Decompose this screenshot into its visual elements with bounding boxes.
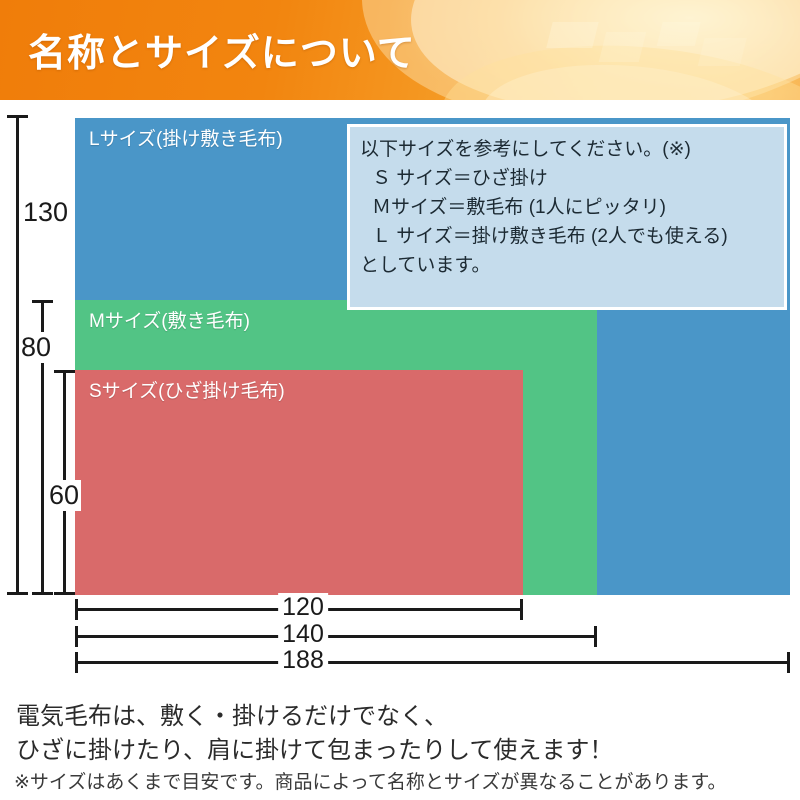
dimension-value-140: 140 bbox=[278, 620, 328, 649]
callout-line-small: Ｓ サイズ＝ひざ掛け bbox=[360, 164, 774, 193]
dimension-cap-bottom bbox=[7, 592, 28, 595]
page-title: 名称とサイズについて bbox=[28, 22, 416, 77]
horizontal-dimension-140: 140 bbox=[75, 625, 597, 647]
dimension-line-bar bbox=[75, 635, 597, 638]
dimension-cap-top bbox=[54, 370, 75, 373]
callout-line-medium: Ｍサイズ＝敷毛布 (1人にピッタリ) bbox=[360, 193, 774, 222]
footer-line-1: 電気毛布は、敷く・掛けるだけでなく、 bbox=[0, 700, 800, 734]
dimension-cap-top bbox=[7, 115, 28, 118]
horizontal-dimension-120: 120 bbox=[75, 598, 523, 620]
callout-line-large: Ｌ サイズ＝掛け敷き毛布 (2人でも使える) bbox=[360, 222, 774, 251]
dimension-line-bar bbox=[75, 661, 790, 664]
size-rectangle-small: Sサイズ(ひざ掛け毛布) bbox=[75, 370, 523, 595]
size-label-small: Sサイズ(ひざ掛け毛布) bbox=[89, 376, 285, 403]
dimension-value-80: 80 bbox=[19, 332, 53, 363]
footer-disclaimer-note: ※サイズはあくまで目安です。商品によって名称とサイズが異なることがあります。 bbox=[0, 768, 800, 798]
dimension-cap-left bbox=[75, 652, 78, 673]
dimension-cap-right bbox=[787, 652, 790, 673]
dimension-cap-left bbox=[75, 599, 78, 620]
dimension-value-130: 130 bbox=[21, 197, 70, 228]
size-label-large: Lサイズ(掛け敷き毛布) bbox=[89, 124, 283, 151]
dimension-cap-top bbox=[32, 300, 53, 303]
size-comparison-diagram: Lサイズ(掛け敷き毛布) Mサイズ(敷き毛布) Sサイズ(ひざ掛け毛布) 以下サ… bbox=[0, 100, 800, 680]
footer-line-2: ひざに掛けたり、肩に掛けて包まったりして使えます！ bbox=[0, 734, 800, 768]
size-label-medium: Mサイズ(敷き毛布) bbox=[89, 306, 250, 333]
callout-line-intro: 以下サイズを参考にしてください。(※) bbox=[360, 135, 774, 164]
footer-description: 電気毛布は、敷く・掛けるだけでなく、 ひざに掛けたり、肩に掛けて包まったりして使… bbox=[0, 700, 800, 798]
callout-line-closing: としています。 bbox=[360, 251, 774, 280]
dimension-cap-bottom bbox=[54, 592, 75, 595]
horizontal-dimension-188: 188 bbox=[75, 651, 790, 673]
dimension-cap-bottom bbox=[32, 592, 53, 595]
dimension-cap-right bbox=[594, 626, 597, 647]
dimension-cap-left bbox=[75, 626, 78, 647]
dimension-value-120: 120 bbox=[278, 593, 328, 622]
dimension-value-60: 60 bbox=[47, 480, 81, 511]
banner-square-pattern-decoration bbox=[537, 22, 752, 84]
header-banner: 名称とサイズについて bbox=[0, 0, 800, 100]
dimension-cap-right bbox=[520, 599, 523, 620]
dimension-value-188: 188 bbox=[278, 646, 328, 675]
size-guide-callout: 以下サイズを参考にしてください。(※) Ｓ サイズ＝ひざ掛け Ｍサイズ＝敷毛布 … bbox=[347, 124, 787, 310]
